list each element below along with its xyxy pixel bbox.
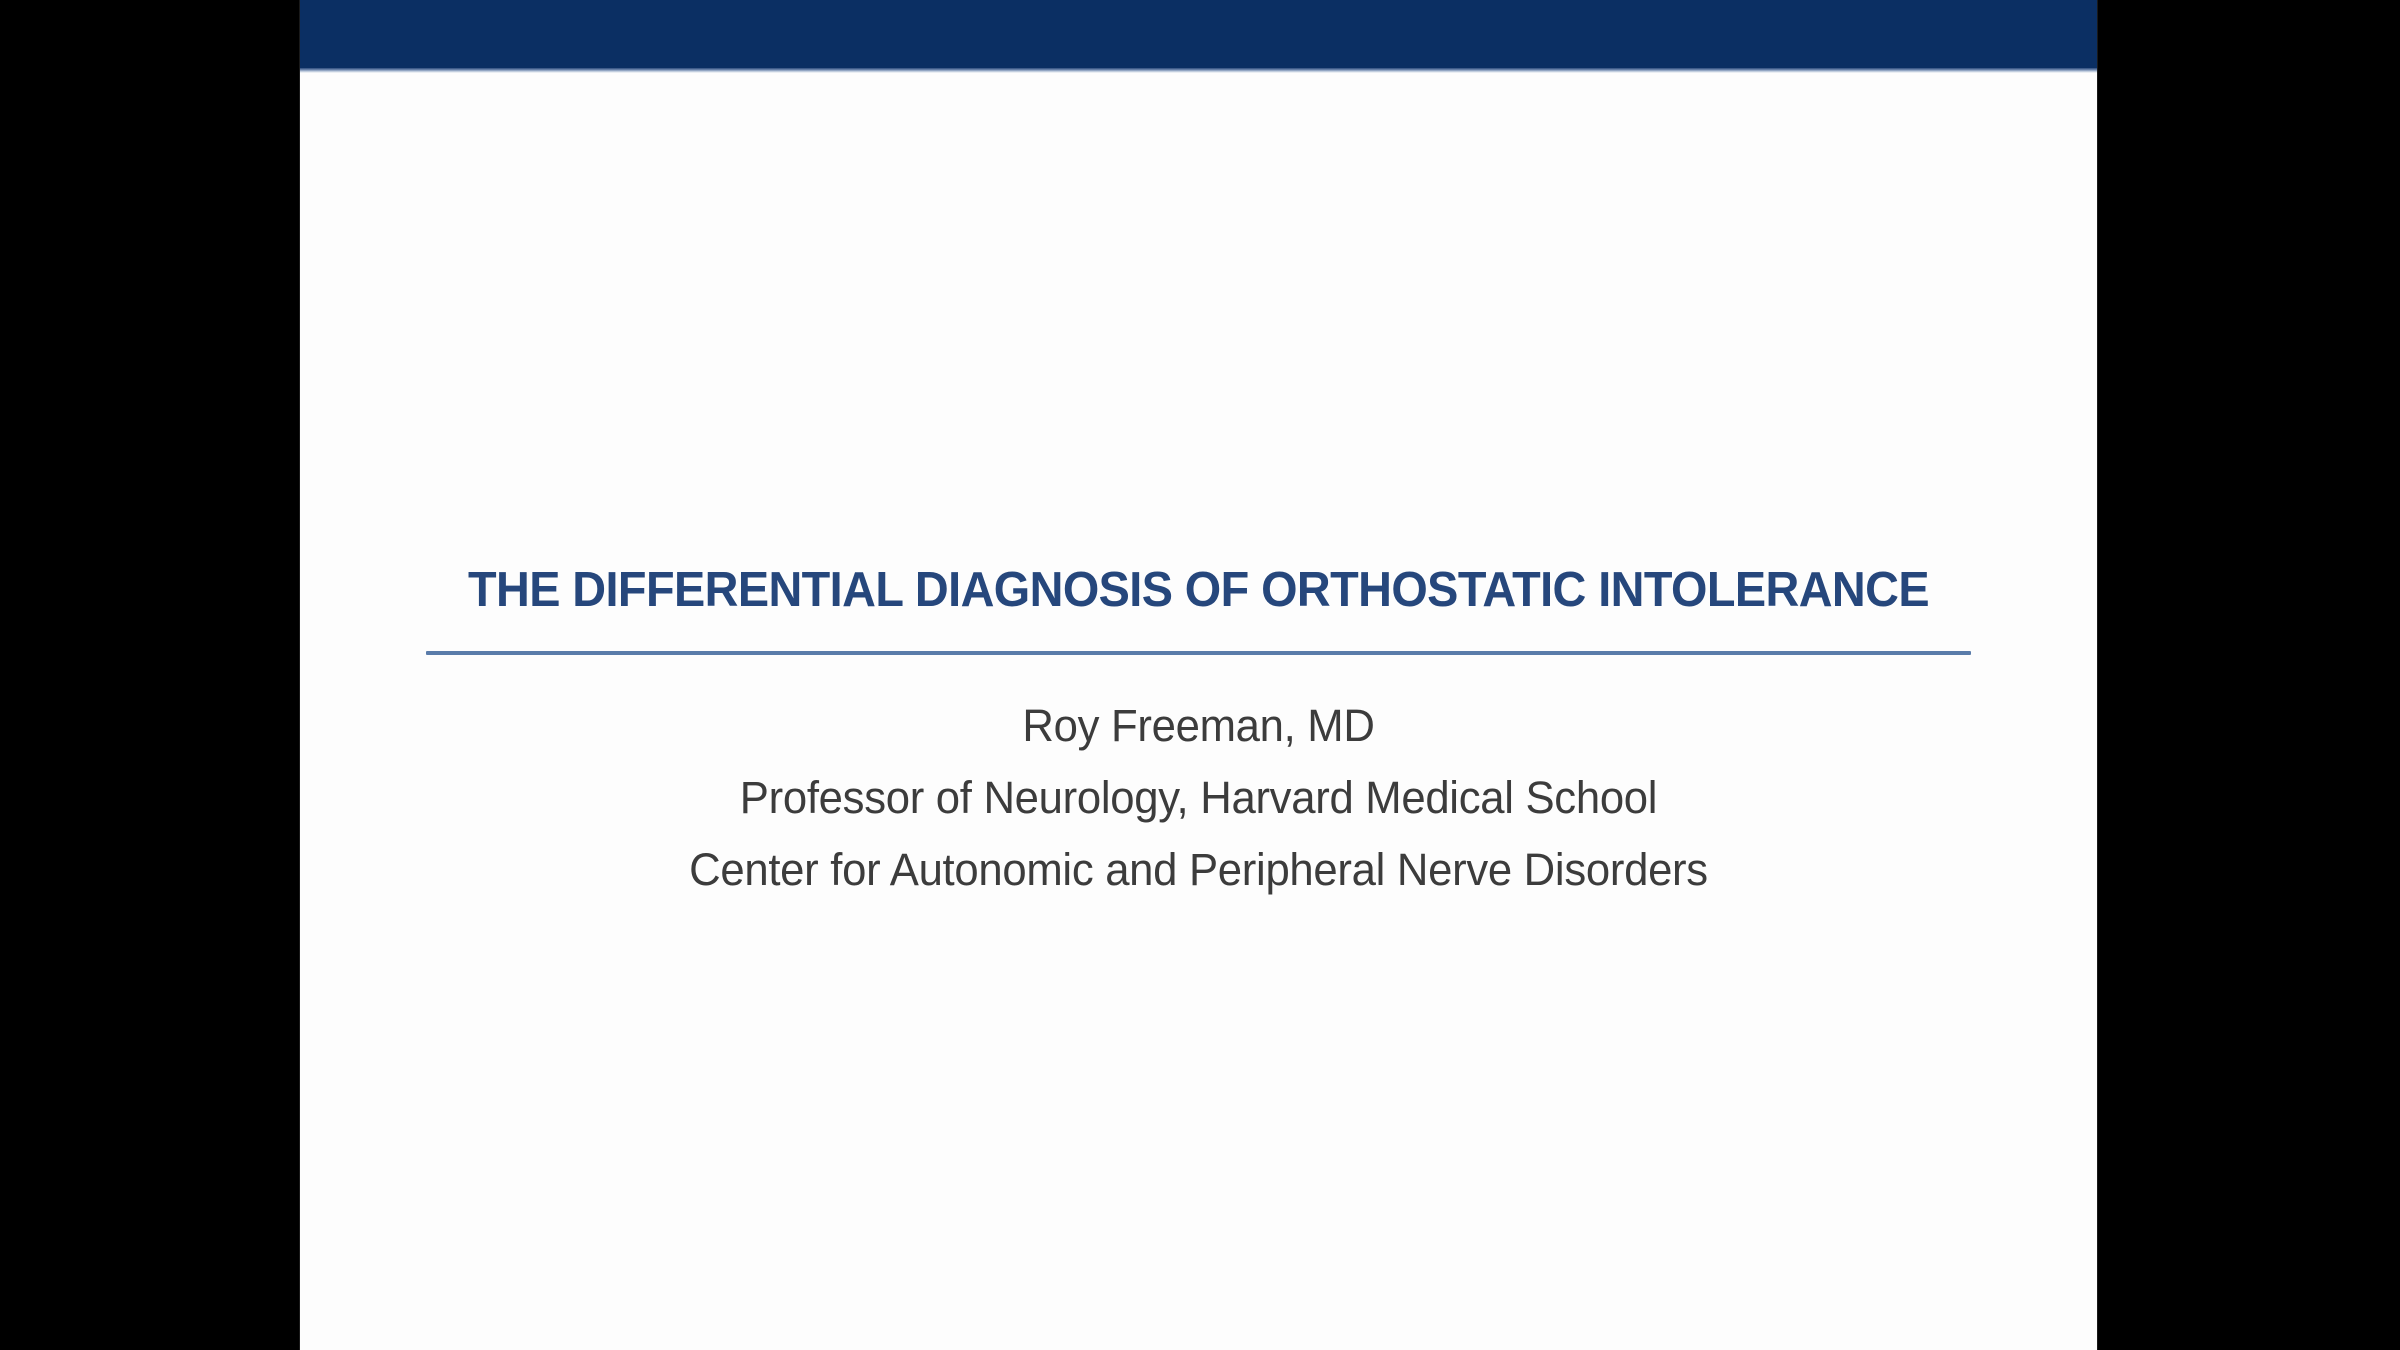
presenter-title-affiliation: Professor of Neurology, Harvard Medical …	[327, 762, 2070, 834]
presentation-slide: THE DIFFERENTIAL DIAGNOSIS OF ORTHOSTATI…	[300, 0, 2097, 1350]
presenter-info-block: Roy Freeman, MD Professor of Neurology, …	[300, 690, 2097, 906]
slide-header-accent-rule	[300, 68, 2097, 73]
slide-header-band	[300, 0, 2097, 68]
title-divider-rule	[426, 651, 1971, 655]
presenter-name: Roy Freeman, MD	[327, 690, 2070, 762]
slide-title: THE DIFFERENTIAL DIAGNOSIS OF ORTHOSTATI…	[340, 566, 2056, 615]
presenter-center-affiliation: Center for Autonomic and Peripheral Nerv…	[327, 834, 2070, 906]
slide-title-block: THE DIFFERENTIAL DIAGNOSIS OF ORTHOSTATI…	[300, 566, 2097, 655]
video-letterbox-frame: THE DIFFERENTIAL DIAGNOSIS OF ORTHOSTATI…	[0, 0, 2400, 1350]
